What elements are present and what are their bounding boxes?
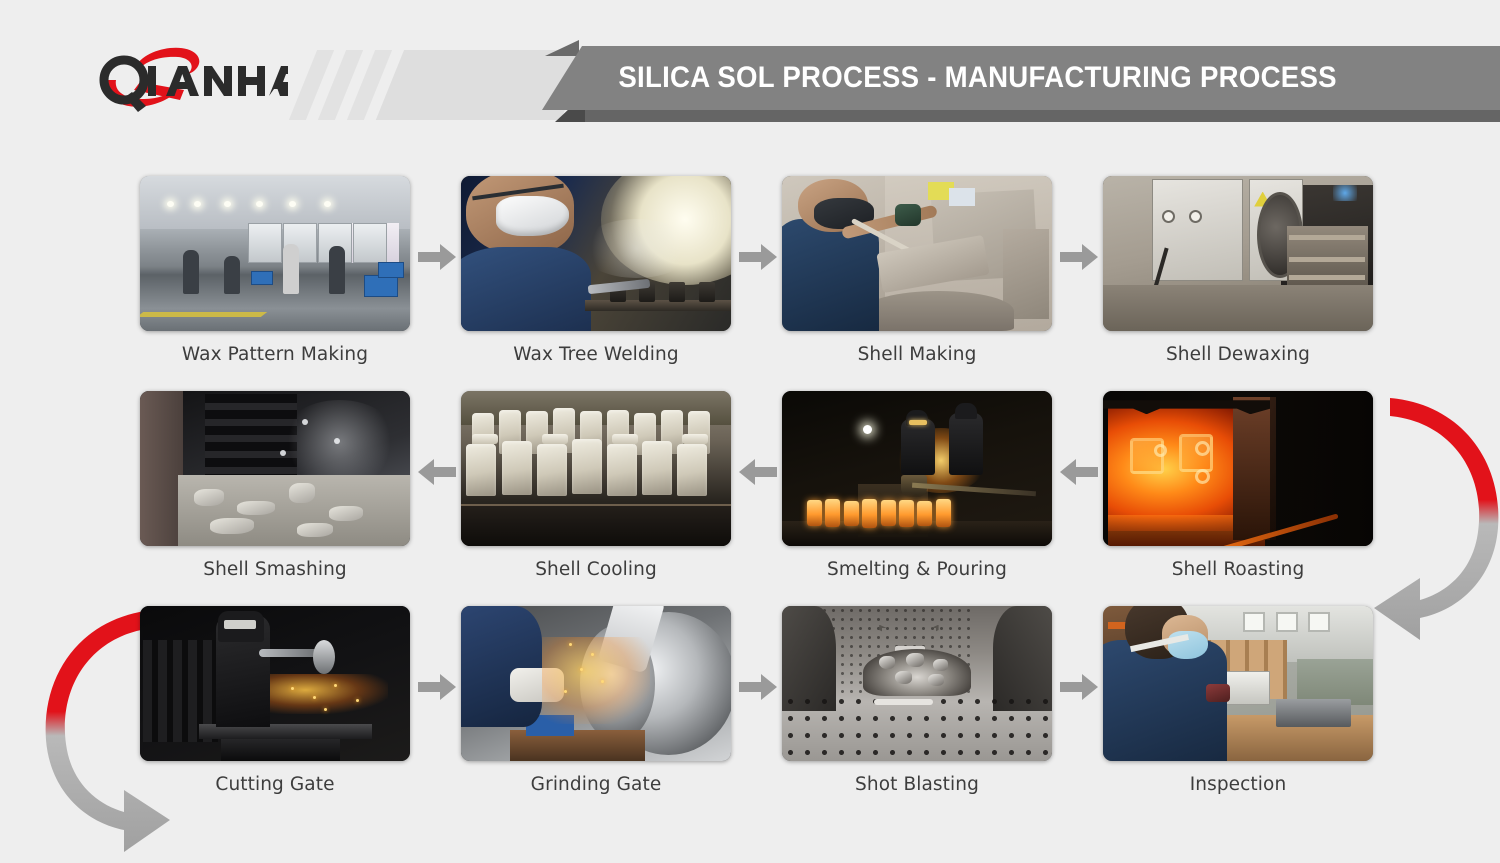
flow-row-1: Wax Pattern Making Wax <box>0 176 1500 391</box>
page-title: SILICA SOL PROCESS - MANUFACTURING PROCE… <box>530 46 1422 110</box>
step-label: Shot Blasting <box>782 774 1052 795</box>
arrow-left-icon <box>739 459 777 485</box>
arrow-right-icon <box>739 674 777 700</box>
step-label: Shell Cooling <box>461 559 731 580</box>
flow-step-cutting-gate[interactable]: Cutting Gate <box>140 606 410 806</box>
banner-shadow <box>570 108 1500 122</box>
flow-step-inspection[interactable]: Inspection <box>1103 606 1373 806</box>
page-header: SILICA SOL PROCESS - MANUFACTURING PROCE… <box>0 0 1500 150</box>
step-label: Shell Dewaxing <box>1103 344 1373 365</box>
arrow-right-icon <box>418 674 456 700</box>
step-label: Inspection <box>1103 774 1373 795</box>
process-flow-diagram: Wax Pattern Making Wax <box>0 150 1500 844</box>
shot-blasting-photo <box>782 606 1052 761</box>
flow-step-shell-cooling[interactable]: Shell Cooling <box>461 391 731 591</box>
shell-roasting-photo <box>1103 391 1373 546</box>
arrow-left-icon <box>1060 459 1098 485</box>
shell-dewaxing-photo <box>1103 176 1373 331</box>
step-label: Smelting & Pouring <box>782 559 1052 580</box>
flow-step-wax-pattern-making[interactable]: Wax Pattern Making <box>140 176 410 376</box>
flow-step-shell-dewaxing[interactable]: Shell Dewaxing <box>1103 176 1373 376</box>
flow-step-shot-blasting[interactable]: Shot Blasting <box>782 606 1052 806</box>
shell-cooling-photo <box>461 391 731 546</box>
cutting-gate-photo <box>140 606 410 761</box>
flow-step-shell-making[interactable]: Shell Making <box>782 176 1052 376</box>
step-label: Grinding Gate <box>461 774 731 795</box>
step-label: Cutting Gate <box>140 774 410 795</box>
shell-making-photo <box>782 176 1052 331</box>
flow-row-2: Shell Smashing <box>0 391 1500 606</box>
wax-tree-welding-photo <box>461 176 731 331</box>
arrow-left-icon <box>418 459 456 485</box>
flow-step-shell-roasting[interactable]: Shell Roasting <box>1103 391 1373 591</box>
arrow-right-icon <box>739 244 777 270</box>
smelting-and-pouring-photo <box>782 391 1052 546</box>
title-banner: SILICA SOL PROCESS - MANUFACTURING PROCE… <box>530 40 1500 128</box>
step-label: Shell Roasting <box>1103 559 1373 580</box>
step-label: Shell Making <box>782 344 1052 365</box>
wax-pattern-making-photo <box>140 176 410 331</box>
step-label: Wax Pattern Making <box>140 344 410 365</box>
flow-step-smelting-and-pouring[interactable]: Smelting & Pouring <box>782 391 1052 591</box>
step-label: Shell Smashing <box>140 559 410 580</box>
company-logo <box>88 44 288 114</box>
flow-step-grinding-gate[interactable]: Grinding Gate <box>461 606 731 806</box>
arrow-right-icon <box>1060 244 1098 270</box>
grinding-gate-photo <box>461 606 731 761</box>
shell-smashing-photo <box>140 391 410 546</box>
banner-shadow-tip <box>555 108 585 122</box>
flow-row-3: Cutting Gate <box>0 606 1500 821</box>
flow-step-shell-smashing[interactable]: Shell Smashing <box>140 391 410 591</box>
step-label: Wax Tree Welding <box>461 344 731 365</box>
flow-step-wax-tree-welding[interactable]: Wax Tree Welding <box>461 176 731 376</box>
arrow-right-icon <box>1060 674 1098 700</box>
arrow-right-icon <box>418 244 456 270</box>
inspection-photo <box>1103 606 1373 761</box>
